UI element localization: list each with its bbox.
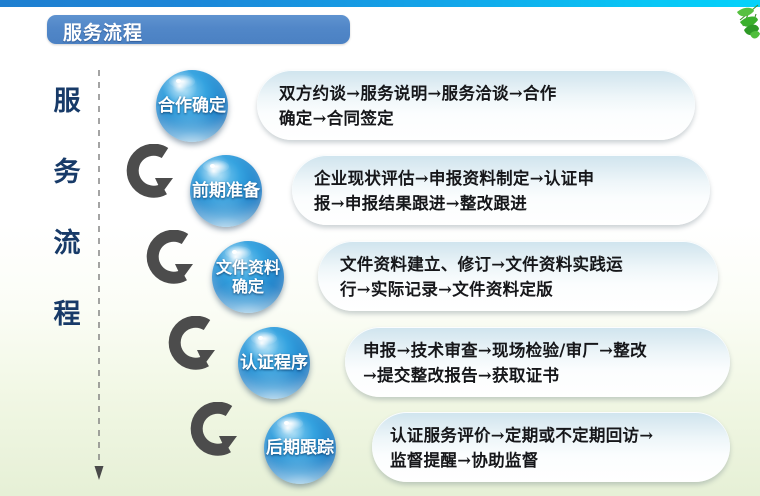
step-detail-text-5: 认证服务评价→定期或不定期回访→ 监督提醒→协助监督: [390, 423, 653, 473]
step-badge-label-3: 文件资料 确定: [212, 241, 284, 313]
top-accent-band: [0, 0, 760, 7]
step-detail-panel-1: 双方约谈→服务说明→服务洽谈→合作 确定→合同签定: [257, 70, 695, 140]
step-badge-label-2: 前期准备: [190, 155, 262, 227]
step-detail-text-2: 企业现状评估→申报资料制定→认证申 报→申报结果跟进→整改跟进: [314, 166, 594, 216]
step-badge-label-4: 认证程序: [238, 327, 310, 399]
step-detail-panel-4: 申报→技术审查→现场检验/审厂→整改 →提交整改报告→获取证书: [345, 327, 730, 397]
step-detail-panel-5: 认证服务评价→定期或不定期回访→ 监督提醒→协助监督: [372, 412, 730, 482]
step-badge-label-1: 合作确定: [156, 70, 228, 142]
slide-canvas: 服务流程 服 务 流 程: [0, 0, 760, 496]
step-detail-text-3: 文件资料建立、修订→文件资料实践运 行→实际记录→文件资料定版: [340, 252, 623, 302]
section-title-pill: 服务流程: [47, 15, 350, 44]
flow-step-row-1: 双方约谈→服务说明→服务洽谈→合作 确定→合同签定 合作确定: [0, 70, 760, 142]
step-badge-2[interactable]: 前期准备: [190, 155, 262, 227]
step-detail-panel-3: 文件资料建立、修订→文件资料实践运 行→实际记录→文件资料定版: [318, 241, 718, 311]
flow-step-row-4: 申报→技术审查→现场检验/审厂→整改 →提交整改报告→获取证书 认证程序: [0, 327, 760, 399]
step-badge-4[interactable]: 认证程序: [238, 327, 310, 399]
page-title: 服务流程: [63, 18, 143, 45]
step-detail-panel-2: 企业现状评估→申报资料制定→认证申 报→申报结果跟进→整改跟进: [292, 155, 710, 225]
step-badge-5[interactable]: 后期跟踪: [264, 412, 336, 484]
step-badge-3[interactable]: 文件资料 确定: [212, 241, 284, 313]
flow-step-row-2: 企业现状评估→申报资料制定→认证申 报→申报结果跟进→整改跟进 前期准备: [0, 155, 760, 227]
flow-step-row-5: 认证服务评价→定期或不定期回访→ 监督提醒→协助监督 后期跟踪: [0, 412, 760, 484]
step-badge-1[interactable]: 合作确定: [156, 70, 228, 142]
step-detail-text-1: 双方约谈→服务说明→服务洽谈→合作 确定→合同签定: [279, 81, 557, 131]
flow-step-row-3: 文件资料建立、修订→文件资料实践运 行→实际记录→文件资料定版 文件资料 确定: [0, 241, 760, 313]
green-leaves-icon: [680, 0, 760, 52]
step-badge-label-5: 后期跟踪: [264, 412, 336, 484]
step-detail-text-4: 申报→技术审查→现场检验/审厂→整改 →提交整改报告→获取证书: [363, 338, 647, 388]
